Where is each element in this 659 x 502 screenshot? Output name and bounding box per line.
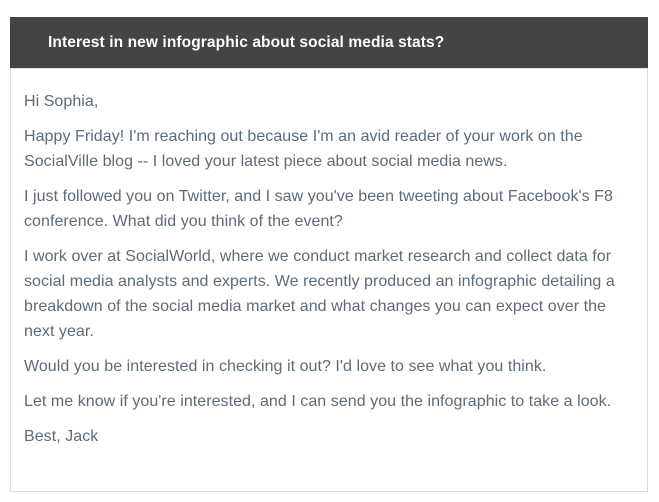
email-paragraph: Happy Friday! I'm reaching out because I… (24, 124, 637, 174)
email-paragraph: Let me know if you're interested, and I … (24, 389, 637, 414)
email-subject-title: Interest in new infographic about social… (48, 34, 444, 53)
email-greeting: Hi Sophia, (24, 89, 637, 114)
email-paragraph: Would you be interested in checking it o… (24, 354, 637, 379)
email-paragraph: I work over at SocialWorld, where we con… (24, 244, 637, 344)
email-preview-card: Interest in new infographic about social… (10, 17, 648, 492)
email-signature: Best, Jack (24, 424, 637, 449)
email-paragraph: I just followed you on Twitter, and I sa… (24, 184, 637, 234)
email-body-panel: Hi Sophia, Happy Friday! I'm reaching ou… (10, 68, 648, 492)
email-header-bar: Interest in new infographic about social… (10, 17, 648, 68)
